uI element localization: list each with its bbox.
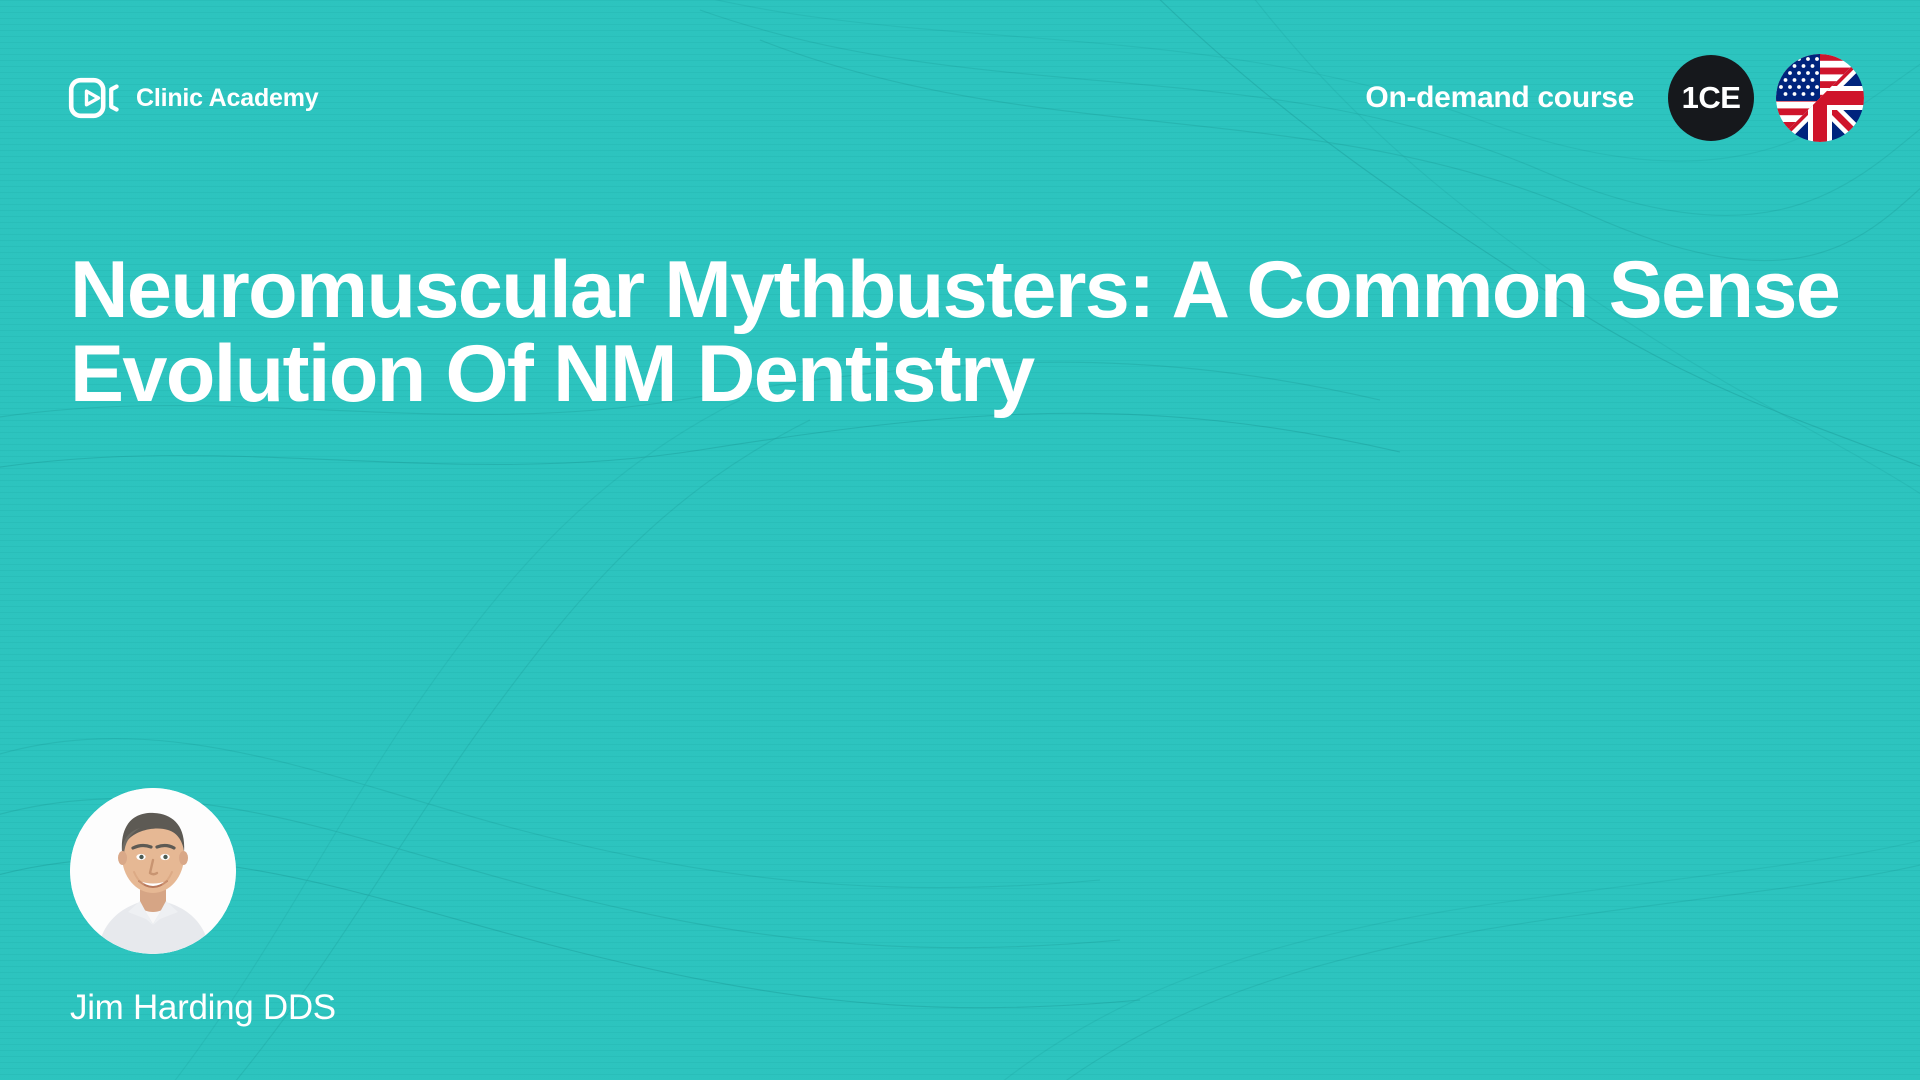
ce-badge-label: 1CE [1682,80,1741,116]
video-camera-icon [68,76,120,120]
brand-name: Clinic Academy [136,84,318,113]
brand[interactable]: Clinic Academy [68,76,318,120]
header: Clinic Academy On-demand course 1CE [0,0,1920,196]
page-title: Neuromuscular Mythbusters: A Common Sens… [70,248,1850,416]
avatar [70,788,236,954]
speaker-block: Jim Harding DDS [70,788,336,1028]
course-cover-slide: Clinic Academy On-demand course 1CE [0,0,1920,1080]
speaker-name: Jim Harding DDS [70,988,336,1028]
course-type-label: On-demand course [1365,81,1634,115]
header-right-group: On-demand course 1CE [1365,54,1864,142]
ce-credit-badge: 1CE [1668,55,1754,141]
us-uk-flag-icon [1776,54,1864,142]
